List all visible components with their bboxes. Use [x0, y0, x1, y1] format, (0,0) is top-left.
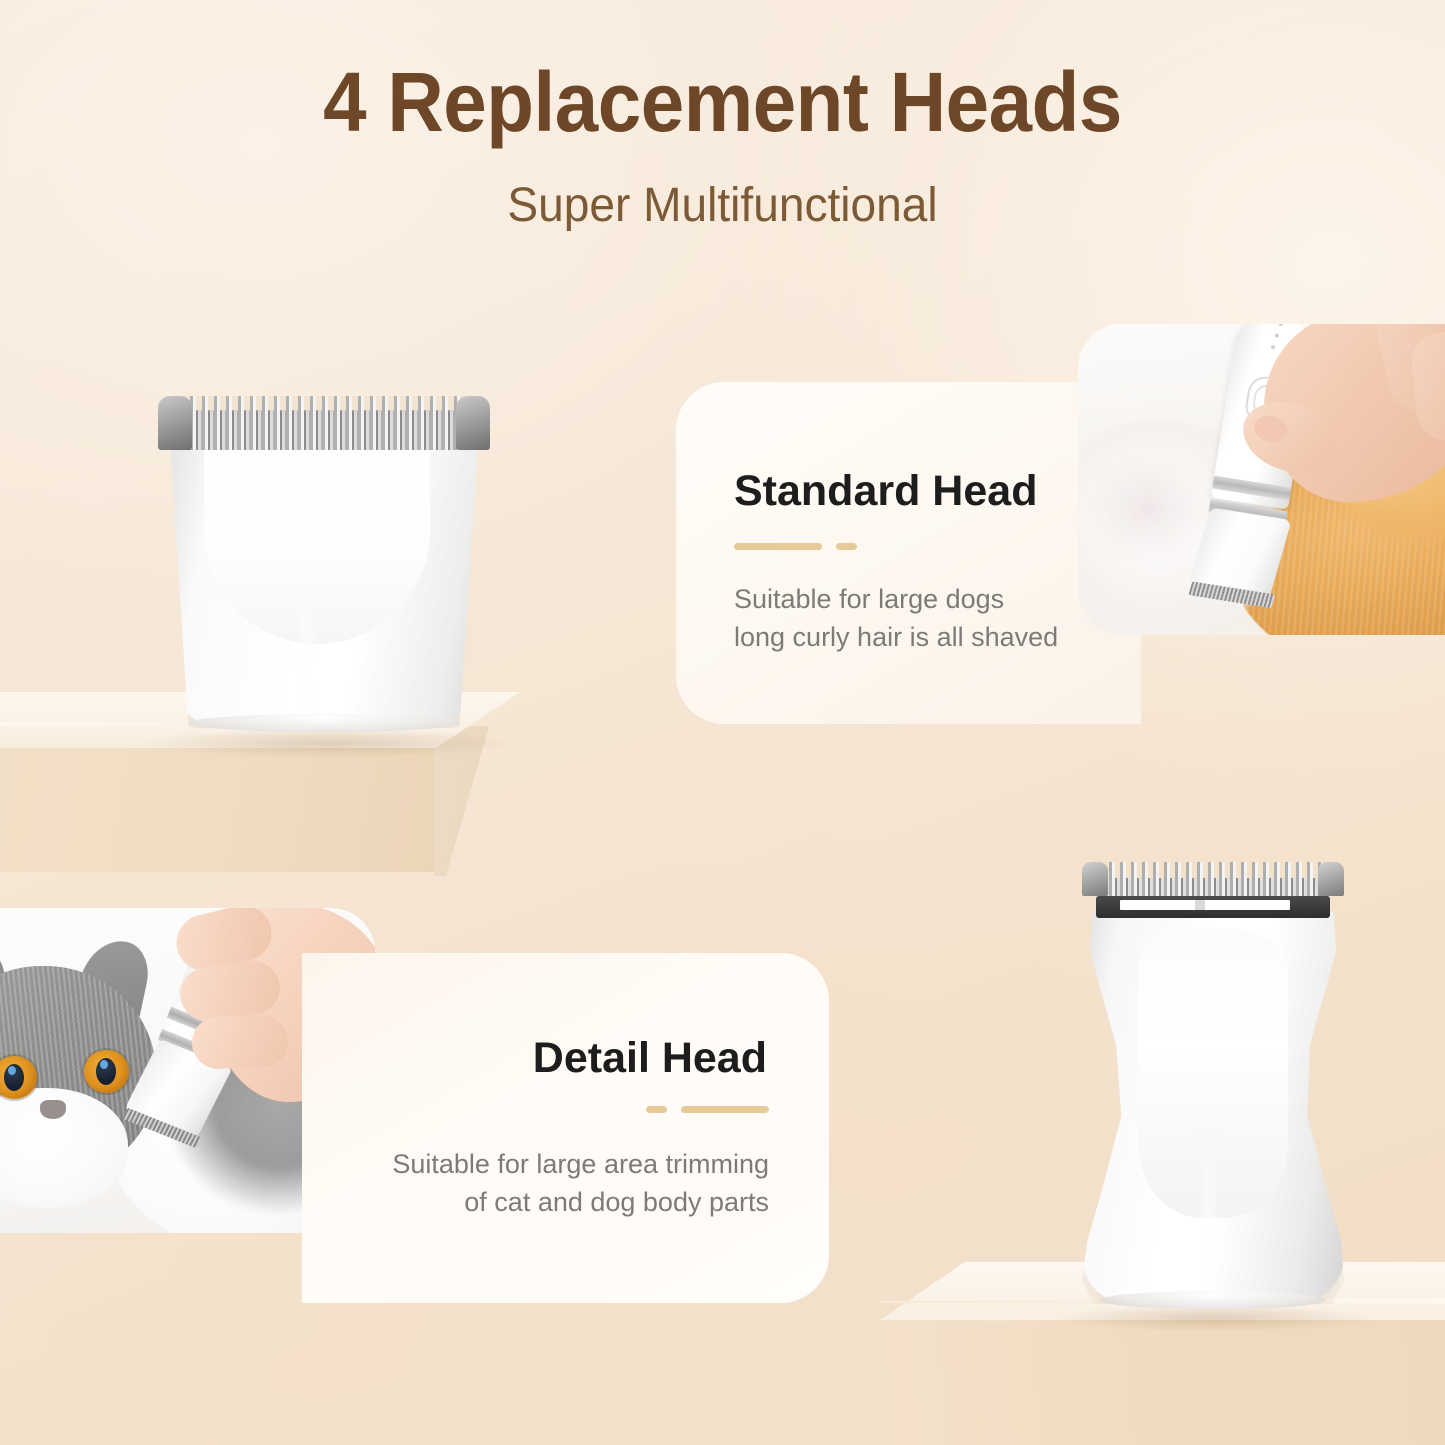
product-detail-head [1082, 862, 1344, 1304]
blade-cap-left [1082, 862, 1108, 896]
title-divider [734, 542, 857, 550]
infographic-canvas: 4 Replacement Heads Super Multifunctiona… [0, 0, 1445, 1445]
feature-title: Standard Head [734, 470, 1037, 513]
feature-title: Detail Head [533, 1037, 767, 1080]
title-divider [646, 1105, 769, 1113]
product-gloss-highlight [298, 564, 314, 728]
product-base [1100, 1291, 1326, 1309]
divider-dash-short [836, 543, 857, 550]
product-gloss-highlight [1202, 1112, 1216, 1292]
feature-description: Suitable for large area trimming of cat … [392, 1145, 769, 1222]
feature-description: Suitable for large dogs long curly hair … [734, 580, 1058, 657]
blade-cap-left [158, 396, 192, 450]
product-base [188, 714, 460, 732]
blade-teeth-notches [1104, 862, 1322, 878]
product-standard-head [158, 394, 490, 728]
divider-dash-short [646, 1106, 667, 1113]
blade-cap-right [456, 396, 490, 450]
hand [1264, 324, 1445, 542]
photo-dog-grooming [1078, 324, 1445, 635]
white-fur-shadow [1088, 454, 1208, 564]
cat-nose [40, 1100, 66, 1119]
blade-comb-icon [158, 394, 490, 450]
divider-dash-long [681, 1106, 769, 1113]
cat-eye-right [84, 1050, 129, 1093]
feature-card-standard-head[interactable]: Standard Head Suitable for large dogs lo… [676, 382, 1141, 724]
blade-cap-right [1318, 862, 1344, 896]
divider-dash-long [734, 543, 822, 550]
product-shadow [138, 728, 518, 758]
feature-card-detail-head[interactable]: Detail Head Suitable for large area trim… [302, 953, 829, 1303]
blade-comb-icon [1082, 862, 1344, 902]
page-title: 4 Replacement Heads [51, 60, 1395, 144]
page-subtitle: Super Multifunctional [29, 182, 1416, 230]
hand-finger-3 [191, 1014, 289, 1069]
